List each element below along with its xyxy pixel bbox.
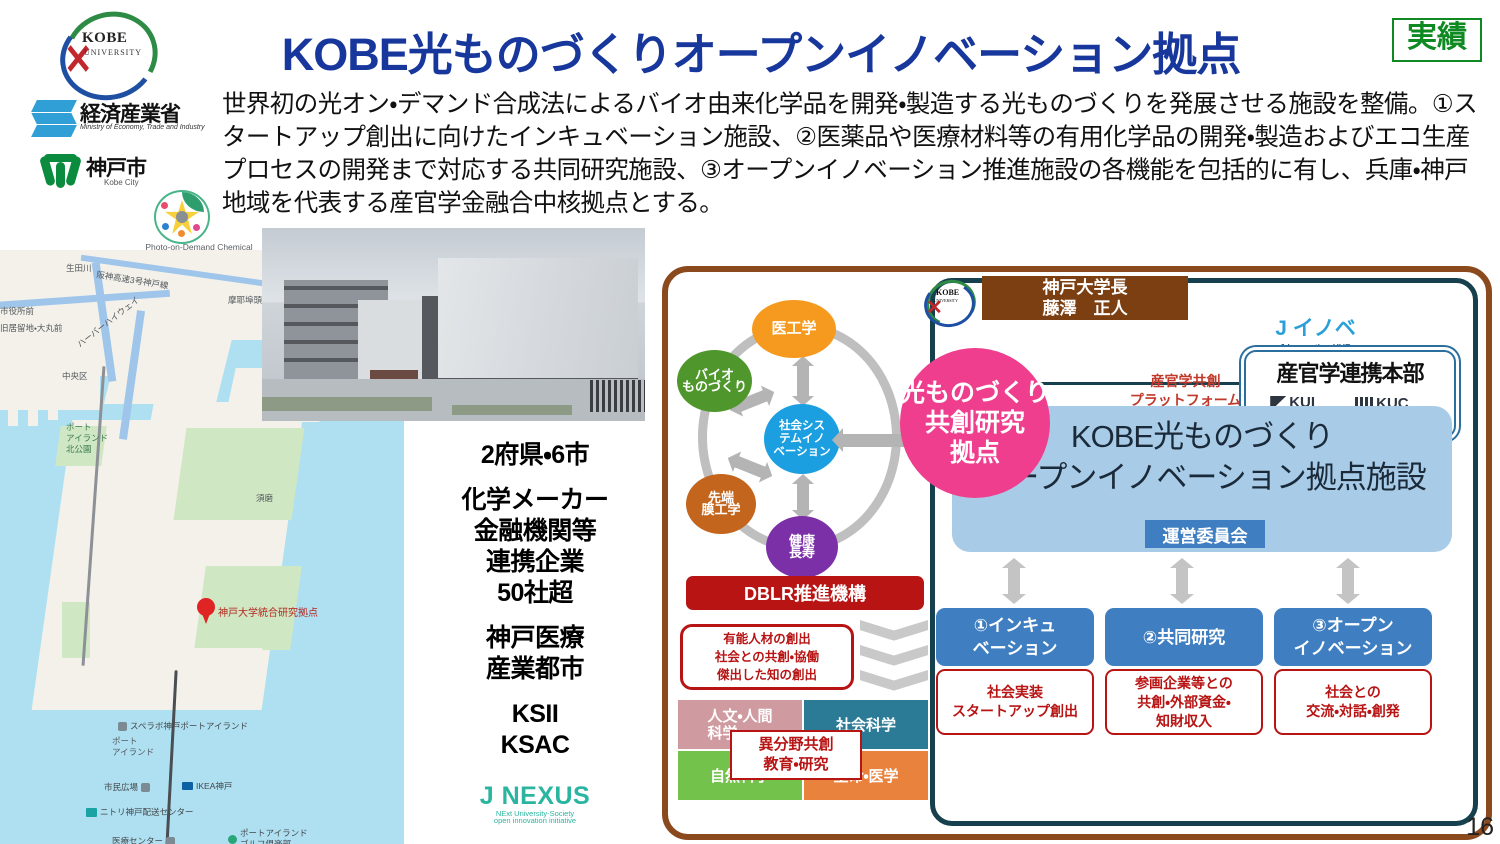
operating-committee-badge[interactable]: 運営委員会 [1145, 520, 1265, 548]
hub-node-label: 光ものづくり 共創研究 拠点 [900, 378, 1050, 468]
jnexus-logo: J NEXUS NExt University-Society open inn… [445, 782, 625, 825]
molecule-dot-icon [193, 224, 200, 231]
molecule-dot-icon [178, 230, 185, 237]
cross-field-box: 異分野共創 教育・研究 [730, 730, 862, 780]
list-group: 2府県・6市 [420, 440, 650, 471]
arrow-up-down-icon [792, 474, 814, 520]
map-poi[interactable]: 市民広場 [104, 781, 150, 793]
list-group: KSII KSAC [420, 699, 650, 761]
pillar-bottom-label: 参画企業等との 共創・外部資金・ 知財収入 [1135, 674, 1233, 731]
platform-line-1: 産官学共創 [1123, 372, 1248, 391]
dblr-bar[interactable]: DBLR推進機構 [686, 576, 924, 610]
kobe-city-label-en: Kobe City [104, 178, 139, 187]
meti-label-en: Ministry of Economy, Trade and Industry [80, 124, 205, 131]
list-item: 化学メーカー [420, 485, 650, 516]
list-item: KSII [420, 699, 650, 730]
page-number: 16 [1466, 813, 1494, 842]
partner-list: 2府県・6市 化学メーカー 金融機関等 連携企業 50社超 神戸医療 産業都市 … [420, 440, 650, 775]
pillar-bottom-label: 社会との 交流・対話・創発 [1306, 683, 1400, 721]
list-item: 2府県・6市 [420, 440, 650, 471]
jnexus-sub-2: open innovation initiative [445, 816, 625, 825]
wheel-node-label: バイオ ものづくり [682, 369, 747, 393]
chevron-up-icon-group [860, 620, 928, 692]
map-poi[interactable]: IKEA神戸 [182, 780, 232, 792]
list-item: 50社超 [420, 578, 650, 609]
arrow-up-down-icon [792, 356, 814, 406]
pillar-top-label: ②共同研究 [1143, 626, 1225, 649]
lead-paragraph: 世界初の光オン・デマンド合成法によるバイオ由来化学品を開発・製造する光ものづくり… [222, 88, 1477, 220]
pillar-top-label: ③オープン イノベーション [1294, 614, 1413, 660]
list-item: 連携企業 [420, 547, 650, 578]
molecule-dot-icon [162, 223, 169, 230]
list-group: 神戸医療 産業都市 [420, 623, 650, 685]
cross-line-2: 教育・研究 [758, 755, 833, 775]
platform-label: 産官学共創 プラットフォーム [1123, 372, 1248, 410]
jinnove-name: J イノベ [1233, 312, 1398, 342]
page-title: KOBE光ものづくりオープンイノベーション拠点 [196, 18, 1326, 83]
organization-diagram: 医工学 バイオ ものづくり 先端 膜工学 健康 長寿 社会シス テムイノ ベーシ… [662, 266, 1492, 840]
map-poi[interactable]: スペラボ神戸ポートアイランド [118, 720, 248, 732]
president-name: 藤澤 正人 [1043, 298, 1128, 319]
cross-line-1: 異分野共創 [758, 735, 833, 755]
list-item: 神戸医療 [420, 623, 650, 654]
pillar-open-innovation[interactable]: ③オープン イノベーション 社会との 交流・対話・創発 [1274, 608, 1432, 735]
wheel-node-advanced-membrane[interactable]: 先端 膜工学 [686, 474, 756, 534]
kobe-university-logo: ✕ KOBE UNIVERSITY [50, 10, 165, 92]
molecule-core-icon [176, 211, 188, 223]
kobe-university-logo-small: ✕KOBEUNIVERSITY [920, 278, 978, 328]
pillar-joint-research[interactable]: ②共同研究 参画企業等との 共創・外部資金・ 知財収入 [1105, 608, 1263, 735]
talent-line-2: 社会との共創・協働 [715, 648, 819, 666]
wheel-node-health-longevity[interactable]: 健康 長寿 [766, 516, 838, 578]
president-bar: 神戸大学長 藤澤 正人 [982, 276, 1188, 320]
list-item: 金融機関等 [420, 516, 650, 547]
wheel-node-social-system-innovation[interactable]: 社会シス テムイノ ベーション [764, 404, 840, 474]
talent-line-3: 傑出した知の創出 [715, 666, 819, 684]
research-wheel: 医工学 バイオ ものづくり 先端 膜工学 健康 長寿 社会シス テムイノ ベーシ… [674, 298, 924, 568]
kobe-university-sub: UNIVERSITY [84, 48, 142, 57]
wheel-node-bio-manufacturing[interactable]: バイオ ものづくり [677, 350, 752, 412]
wheel-node-label: 先端 膜工学 [701, 492, 740, 516]
wheel-node-label: 社会シス テムイノ ベーション [773, 420, 830, 459]
meti-logo: 経済産業省 Ministry of Economy, Trade and Ind… [32, 96, 222, 146]
wheel-node-label: 健康 長寿 [789, 535, 815, 559]
talent-line-1: 有能人材の創出 [715, 630, 819, 648]
hub-node-photo-manufacturing[interactable]: 光ものづくり 共創研究 拠点 [900, 348, 1050, 498]
pillar-incubation[interactable]: ①インキュ ベーション 社会実装 スタートアップ創出 [936, 608, 1094, 735]
pillar-bottom-label: 社会実装 スタートアップ創出 [952, 683, 1078, 721]
header-logo-group: ✕ KOBE UNIVERSITY 経済産業省 Ministry of Econ… [18, 4, 218, 244]
j-innovation-hub-logo: J イノベ J-Innovation HUB [1233, 312, 1398, 352]
talent-creation-box: 有能人材の創出 社会との共創・協働 傑出した知の創出 [680, 624, 854, 690]
kobe-university-name: KOBE [82, 30, 127, 47]
list-group: 化学メーカー 金融機関等 連携企業 50社超 [420, 485, 650, 609]
map-pin-icon[interactable] [197, 598, 215, 624]
arrow-up-down-icon [1002, 558, 1026, 604]
facility-photo [262, 228, 645, 421]
president-title: 神戸大学長 [1043, 277, 1128, 298]
molecule-dot-icon [161, 202, 168, 209]
wheel-node-medical-engineering[interactable]: 医工学 [752, 300, 836, 358]
kobe-city-mark-icon [40, 152, 82, 190]
arrow-up-down-icon [1170, 558, 1194, 604]
meti-mark-icon [32, 98, 76, 138]
map-poi[interactable]: 医療センター [112, 835, 175, 844]
jnexus-name: J NEXUS [445, 782, 625, 811]
list-item: KSAC [420, 730, 650, 761]
podc-circle-icon [154, 190, 210, 244]
pillar-top-label: ①インキュ ベーション [973, 614, 1058, 660]
map-poi[interactable]: ニトリ神戸配送センター [86, 806, 194, 818]
map-pin-label: 神戸大学統合研究拠点 [218, 604, 318, 619]
arrow-up-down-icon [1336, 558, 1360, 604]
map-poi[interactable]: ポートアイランドゴルフ倶楽部 [228, 828, 308, 844]
wheel-node-label: 医工学 [771, 323, 816, 335]
status-badge: 実績 [1392, 18, 1482, 62]
sangaku-hq-title: 産官学連携本部 [1246, 356, 1454, 388]
list-item: 産業都市 [420, 654, 650, 685]
